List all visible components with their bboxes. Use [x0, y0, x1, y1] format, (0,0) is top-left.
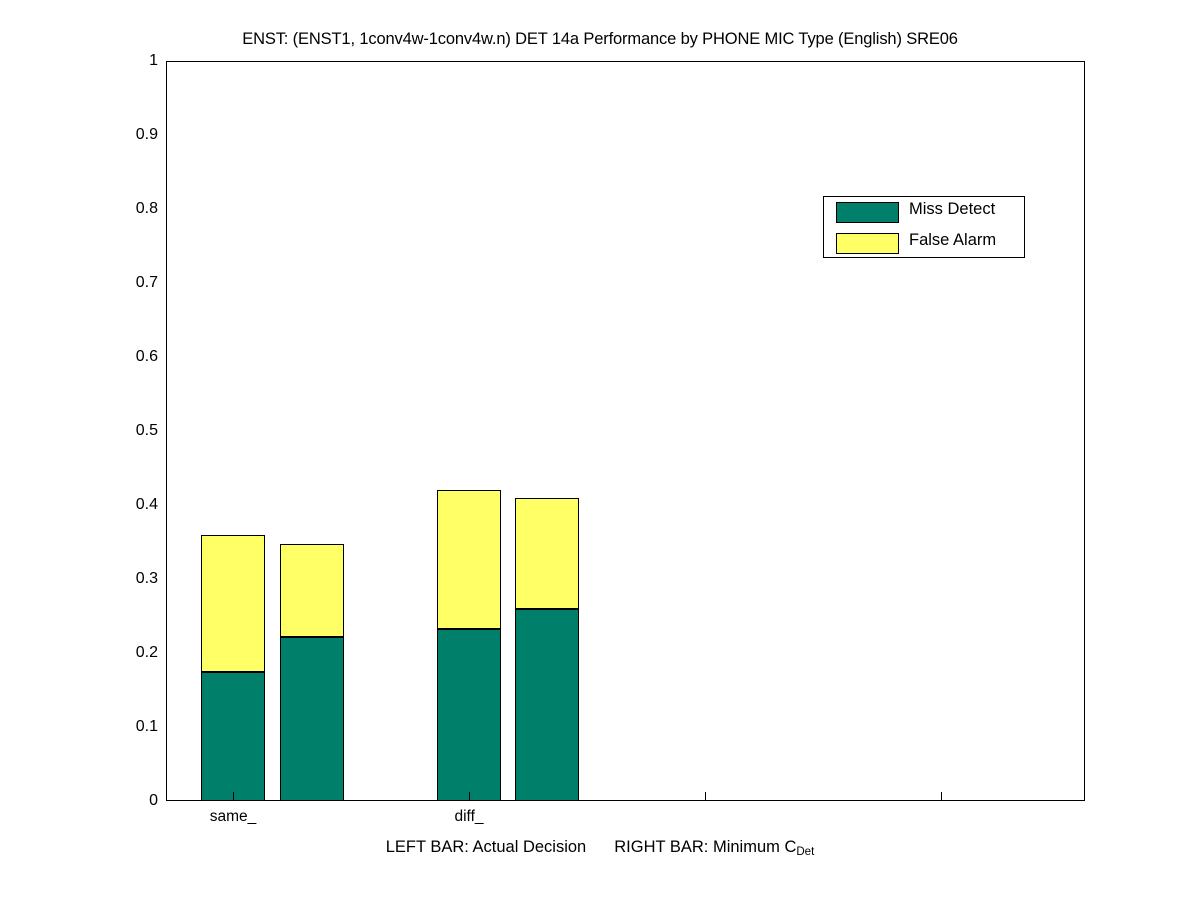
figure-canvas: ENST: (ENST1, 1conv4w-1conv4w.n) DET 14a…	[0, 0, 1200, 901]
y-tick-label: 0.2	[108, 644, 158, 662]
bar-segment-miss-detect	[515, 609, 579, 801]
legend-swatch-miss-detect	[836, 202, 899, 223]
bar-segment-false-alarm	[437, 490, 501, 629]
x-tick-label-same: same_	[210, 808, 257, 826]
y-tick-label: 0.9	[108, 126, 158, 144]
legend: Miss Detect False Alarm	[823, 196, 1025, 258]
bar-segment-false-alarm	[515, 498, 579, 609]
chart-title: ENST: (ENST1, 1conv4w-1conv4w.n) DET 14a…	[0, 30, 1200, 49]
legend-swatch-false-alarm	[836, 233, 899, 254]
legend-item-false-alarm: False Alarm	[824, 228, 1024, 259]
legend-label-miss-detect: Miss Detect	[909, 200, 995, 219]
caption-right-bar: RIGHT BAR: Minimum C	[614, 838, 796, 856]
bar-segment-false-alarm	[201, 535, 265, 673]
y-tick-label: 0.3	[108, 570, 158, 588]
bar-segment-false-alarm	[280, 544, 344, 637]
x-tick-mark	[469, 792, 470, 801]
x-tick-mark	[941, 792, 942, 801]
bar-segment-miss-detect	[437, 629, 501, 801]
bar-same-actual	[201, 535, 265, 801]
bar-diff-mindcf	[515, 498, 579, 801]
y-tick-label: 1	[108, 52, 158, 70]
legend-label-false-alarm: False Alarm	[909, 231, 996, 250]
bar-diff-actual	[437, 490, 501, 801]
y-tick-label: 0.1	[108, 718, 158, 736]
y-tick-label: 0.6	[108, 348, 158, 366]
x-axis-caption: LEFT BAR: Actual DecisionRIGHT BAR: Mini…	[0, 838, 1200, 858]
x-tick-mark	[233, 792, 234, 801]
bar-segment-miss-detect	[280, 637, 344, 801]
y-tick-label: 0.7	[108, 274, 158, 292]
y-tick-label: 0.8	[108, 200, 158, 218]
legend-item-miss-detect: Miss Detect	[824, 197, 1024, 228]
bar-segment-miss-detect	[201, 672, 265, 801]
y-tick-label: 0.5	[108, 422, 158, 440]
y-tick-label: 0	[108, 792, 158, 810]
bar-same-mindcf	[280, 544, 344, 801]
x-tick-mark	[705, 792, 706, 801]
x-tick-label-diff: diff_	[454, 808, 483, 826]
caption-subscript-det: Det	[796, 846, 814, 858]
caption-left-bar: LEFT BAR: Actual Decision	[386, 838, 587, 856]
y-tick-label: 0.4	[108, 496, 158, 514]
